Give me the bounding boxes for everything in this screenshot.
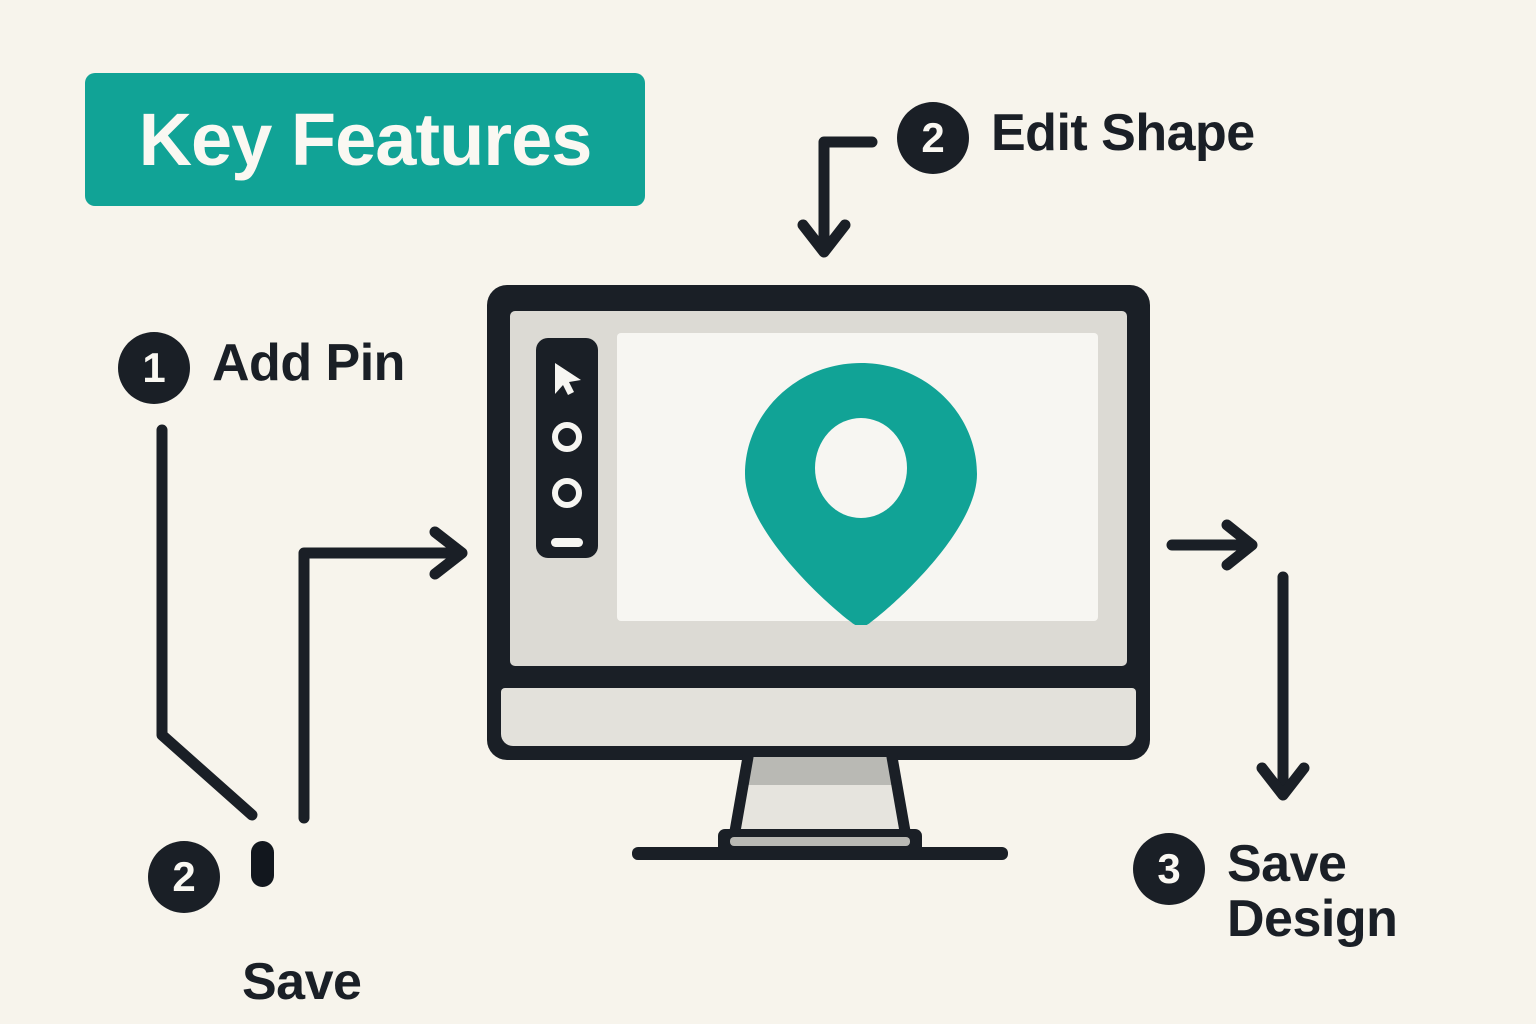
save-connector bbox=[304, 553, 450, 818]
cursor-arrow-icon[interactable] bbox=[550, 360, 584, 403]
step-label: Save Design bbox=[1227, 837, 1397, 947]
step-label: Add Pin bbox=[212, 336, 405, 391]
title-badge: Key Features bbox=[85, 73, 645, 206]
step-badge-number: 1 bbox=[118, 332, 190, 404]
step-badge-number: 3 bbox=[1133, 833, 1205, 905]
circle-outline-icon[interactable] bbox=[552, 422, 582, 452]
step-add-pin[interactable]: 1 Add Pin bbox=[118, 332, 405, 404]
monitor-chin bbox=[501, 688, 1136, 746]
map-pin-icon[interactable] bbox=[745, 363, 977, 625]
page-title: Key Features bbox=[139, 103, 592, 177]
line-icon[interactable] bbox=[551, 538, 583, 547]
step-badge-number: 2 bbox=[148, 841, 220, 913]
editor-toolbar[interactable] bbox=[536, 338, 598, 558]
add-pin-connector bbox=[162, 430, 252, 815]
step-edit-shape[interactable]: 2 Edit Shape bbox=[897, 102, 1255, 174]
step-label-text: Save bbox=[242, 953, 361, 1011]
step-label-glitched: Save bbox=[242, 845, 361, 1010]
step-label: Edit Shape bbox=[991, 106, 1255, 161]
infographic-canvas: .conn { fill: none; stroke: #1A1F26; str… bbox=[0, 0, 1536, 1024]
circle-outline-icon-2[interactable] bbox=[552, 478, 582, 508]
step-save-design[interactable]: 3 Save Design bbox=[1133, 833, 1397, 947]
monitor-stand bbox=[600, 755, 1040, 860]
step-badge-number: 2 bbox=[897, 102, 969, 174]
glyph-artifact bbox=[251, 841, 274, 887]
step-save[interactable]: 2 Save bbox=[148, 841, 361, 1010]
